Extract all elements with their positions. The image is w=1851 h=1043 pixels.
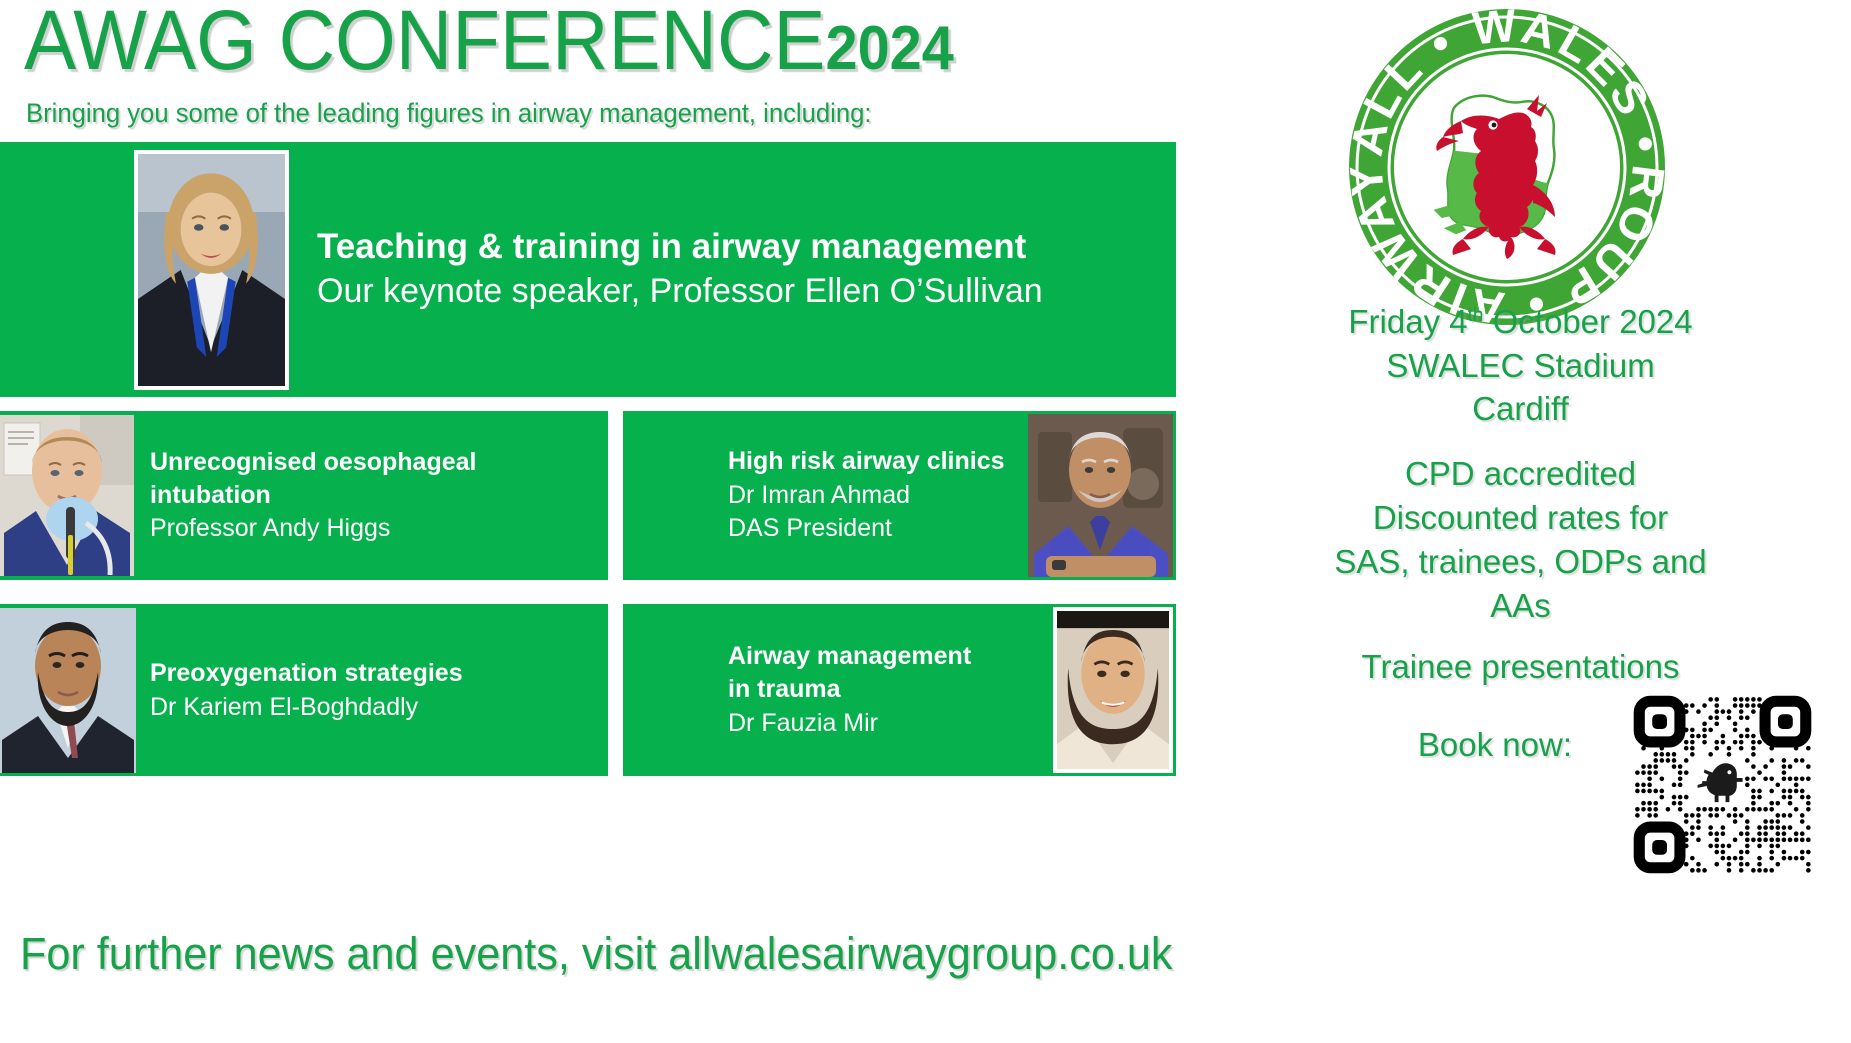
portrait-imran-ahmad [1028,414,1173,577]
talk-speaker: Dr Kariem El-Boghdadly [150,690,598,725]
cpd-line-3: SAS, trainees, ODPs and [1190,540,1851,584]
footer: For further news and events, visit allwa… [0,928,1360,980]
speaker-card-preoxygenation: Preoxygenation strategies Dr Kariem El-B… [0,604,608,776]
poster-subtitle: Bringing you some of the leading figures… [26,98,872,129]
title-main: AWAG CONFERENCE [24,0,826,87]
event-date-ordinal: th [1468,305,1484,326]
card-text: Unrecognised oesophageal intubation Prof… [150,446,608,546]
card-text: Airway management in trauma Dr Fauzia Mi… [728,640,1053,741]
speaker-card-oesophageal: Unrecognised oesophageal intubation Prof… [0,411,608,580]
cpd-details: CPD accredited Discounted rates for SAS,… [1190,452,1851,628]
book-now-label: Book now: [1212,726,1572,764]
event-city: Cardiff [1190,387,1851,431]
right-column: ALL • WALES • GROUP • AIRWAY • [1190,0,1851,1043]
card-text: Teaching & training in airway management… [317,225,1176,313]
portrait-andy-higgs [0,415,134,576]
event-details: Friday 4th October 2024 SWALEC Stadium C… [1190,300,1851,431]
avatar [1028,414,1173,577]
avatar [0,415,134,576]
talk-title: Preoxygenation strategies [150,656,598,691]
qr-code-icon[interactable] [1630,692,1815,877]
card-text: High risk airway clinics Dr Imran Ahmad … [728,445,1028,546]
trainee-presentations-label: Trainee presentations [1190,648,1851,686]
talk-title-line1: Airway management [728,640,1047,674]
card-text: Preoxygenation strategies Dr Kariem El-B… [150,656,608,725]
talk-speaker: Professor Andy Higgs [150,512,598,545]
avatar [0,608,136,773]
booking-qr-code[interactable] [1630,692,1815,877]
cpd-line-1: CPD accredited [1190,452,1851,496]
portrait-ellen-osullivan [138,154,285,386]
talk-title: Teaching & training in airway management [317,225,1164,270]
avatar [1053,607,1173,773]
cpd-line-2: Discounted rates for [1190,496,1851,540]
title-year: 2024 [826,14,954,83]
conference-poster: AWAG CONFERENCE2024 Bringing you some of… [0,0,1851,1043]
speaker-card-trauma: Airway management in trauma Dr Fauzia Mi… [623,604,1176,776]
logo-badge-icon: ALL • WALES • GROUP • AIRWAY • [1346,6,1668,328]
event-date: Friday 4th October 2024 [1190,300,1851,344]
talk-speaker-role: DAS President [728,512,1020,546]
talk-speaker: Our keynote speaker, Professor Ellen O’S… [317,270,1164,314]
cpd-line-4: AAs [1190,584,1851,628]
portrait-fauzia-mir [1057,611,1169,769]
awag-logo: ALL • WALES • GROUP • AIRWAY • [1346,6,1668,328]
talk-speaker: Dr Fauzia Mir [728,707,1047,741]
event-date-suffix: October 2024 [1493,303,1693,340]
talk-title: High risk airway clinics [728,445,1020,479]
event-date-prefix: Friday 4 [1348,303,1467,340]
speaker-card-keynote: Teaching & training in airway management… [0,142,1176,397]
talk-speaker: Dr Imran Ahmad [728,479,1020,513]
talk-title-line2: in trauma [728,673,1047,707]
portrait-kariem-el-boghdadly [0,608,136,773]
speaker-card-high-risk: High risk airway clinics Dr Imran Ahmad … [623,411,1176,580]
event-venue: SWALEC Stadium [1190,344,1851,388]
avatar [134,150,289,390]
talk-title-line2: intubation [150,479,598,512]
footer-website-text[interactable]: For further news and events, visit allwa… [20,928,1173,980]
page-title: AWAG CONFERENCE2024 [24,0,954,82]
talk-title-line1: Unrecognised oesophageal [150,446,598,479]
